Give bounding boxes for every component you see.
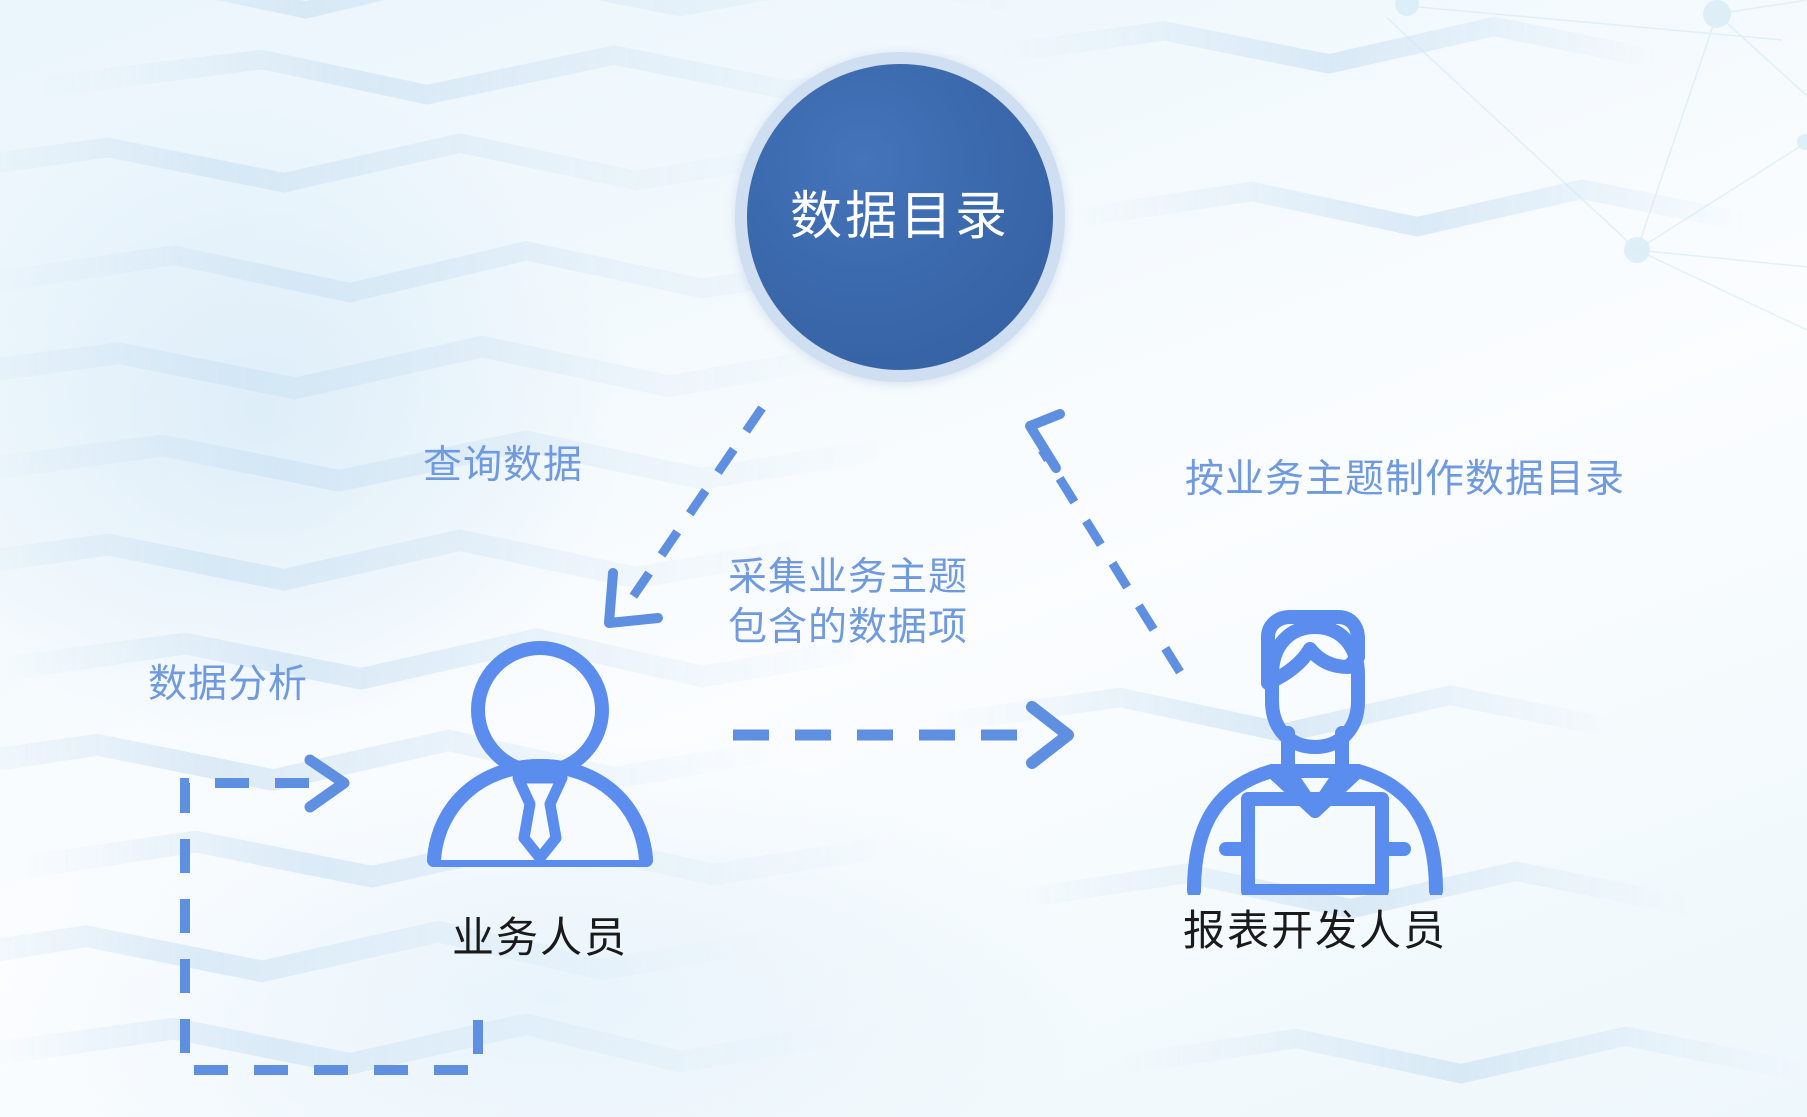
actor-report-developer[interactable]: 报表开发人员 (1145, 605, 1485, 958)
data-catalog-node-body: 数据目录 (747, 64, 1053, 370)
data-catalog-label: 数据目录 (790, 191, 1010, 243)
edge-label-collect-items-line2: 包含的数据项 (728, 603, 968, 653)
network-nodes-decoration (1387, 0, 1807, 330)
edge-data-analysis-arrowhead (310, 760, 344, 807)
edge-label-make-catalog: 按业务主题制作数据目录 (1185, 455, 1625, 505)
person-with-tie-icon (420, 638, 660, 898)
diagram-canvas: 数据目录 查询数据 按业务主题制作数据目录 采集业务主题 包含的数据项 (0, 0, 1807, 1117)
actor-business-user[interactable]: 业务人员 (390, 638, 690, 965)
edge-collect-items (733, 707, 1068, 763)
actor-business-user-label: 业务人员 (452, 904, 628, 965)
edge-label-query-data: 查询数据 (423, 441, 583, 491)
edge-query-data-arrowhead (609, 573, 658, 623)
actor-report-developer-label: 报表开发人员 (1183, 897, 1447, 958)
edge-make-catalog-arrowhead (1030, 414, 1060, 468)
data-catalog-node[interactable]: 数据目录 (735, 52, 1065, 382)
edge-label-data-analysis: 数据分析 (148, 660, 308, 710)
edge-label-collect-items-line1: 采集业务主题 (728, 553, 968, 603)
edge-collect-items-arrowhead (1032, 707, 1068, 763)
developer-with-laptop-icon (1180, 605, 1450, 895)
edge-label-collect-items: 采集业务主题 包含的数据项 (728, 553, 968, 653)
